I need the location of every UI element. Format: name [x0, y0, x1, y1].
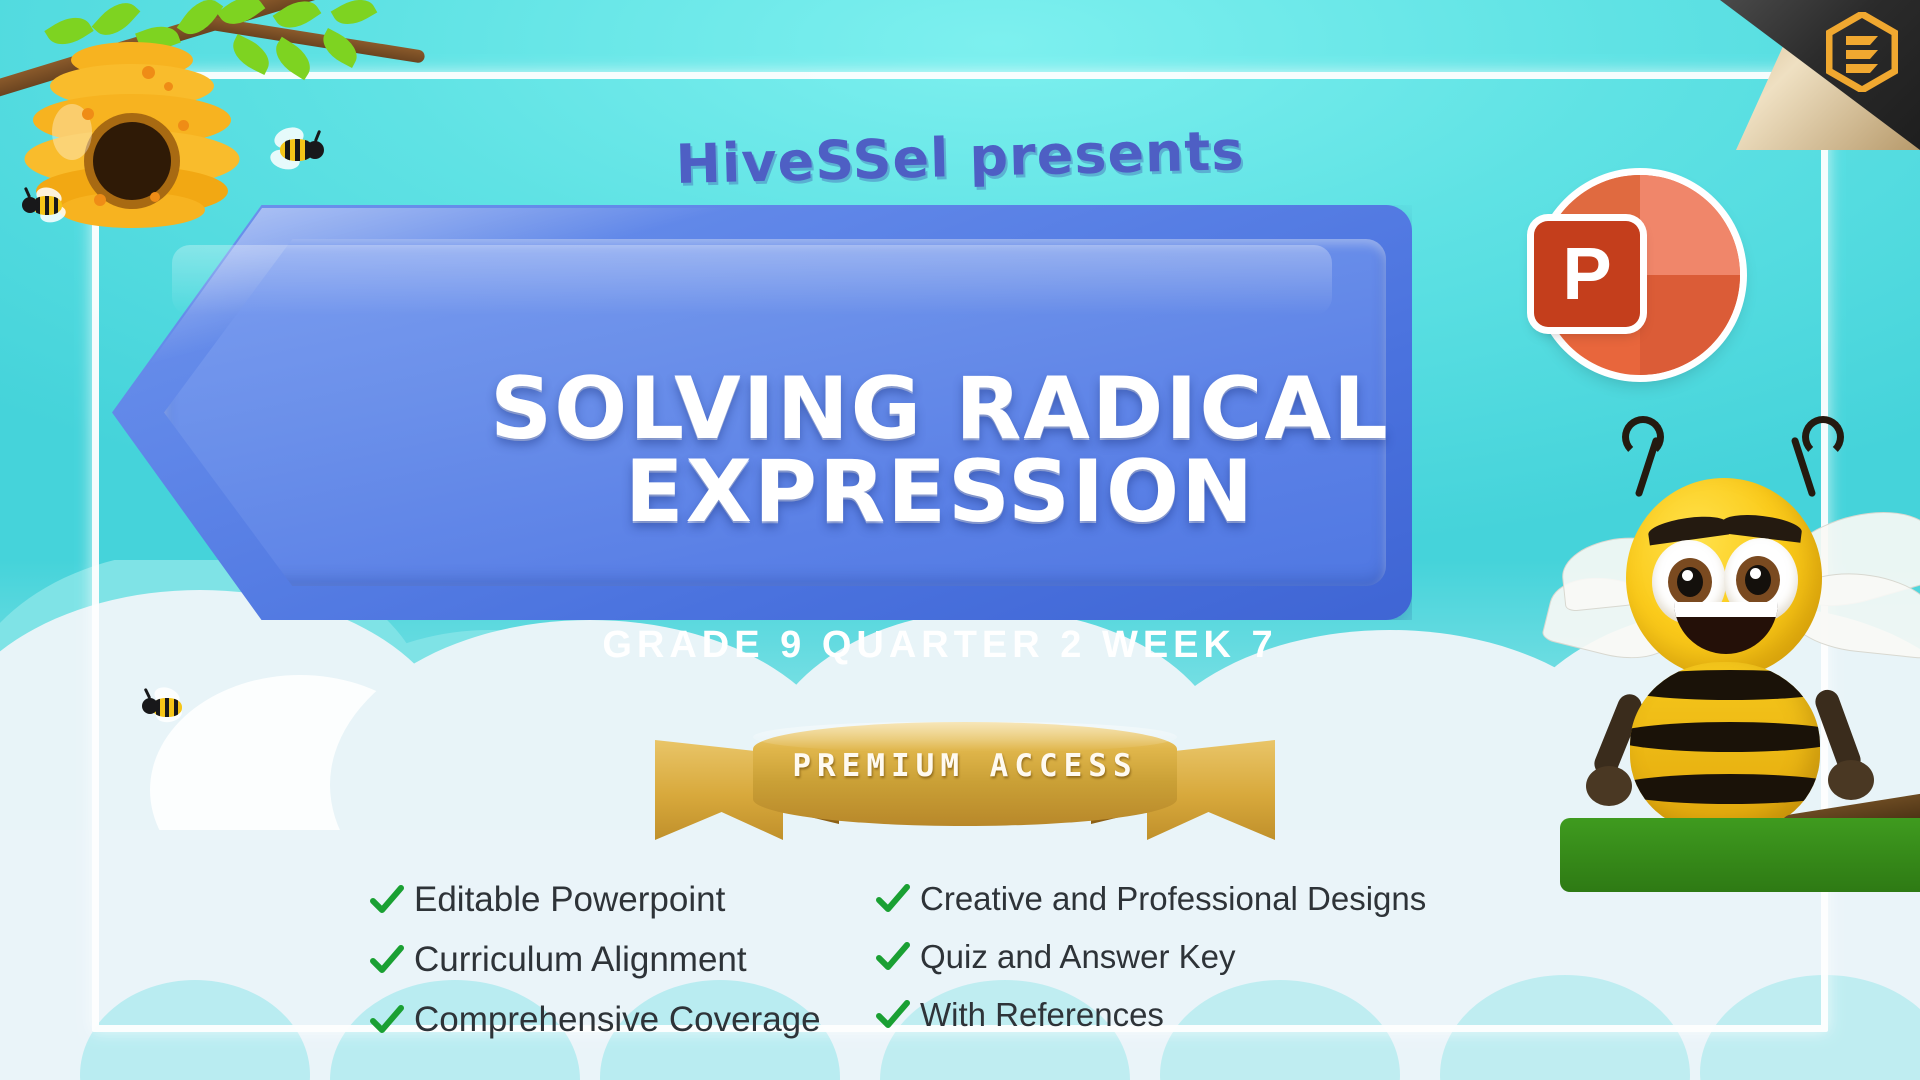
feature-label: Curriculum Alignment — [414, 940, 747, 980]
corner-fold — [1720, 0, 1920, 150]
feature-label: Quiz and Answer Key — [920, 938, 1236, 976]
check-icon — [876, 940, 910, 974]
feature-label: Comprehensive Coverage — [414, 1000, 821, 1040]
bee-mascot — [1570, 430, 1920, 880]
feature-list: Editable Powerpoint Curriculum Alignment… — [370, 880, 1560, 1040]
check-icon — [370, 883, 404, 917]
list-item: Quiz and Answer Key — [876, 938, 1436, 976]
slide-canvas: HiveSSel presents SOLVING RADICAL EXPRES… — [0, 0, 1920, 1080]
list-item: Editable Powerpoint — [370, 880, 800, 920]
flying-bee-icon — [140, 688, 192, 726]
list-item: Curriculum Alignment — [370, 940, 800, 980]
feature-column-right: Creative and Professional Designs Quiz a… — [876, 880, 1436, 1040]
check-icon — [876, 882, 910, 916]
check-icon — [876, 998, 910, 1032]
check-icon — [370, 943, 404, 977]
powerpoint-letter: P — [1534, 221, 1640, 327]
page-title: SOLVING RADICAL EXPRESSION — [150, 368, 1730, 533]
hivessel-hexagon-logo — [1826, 12, 1898, 90]
title-line-2: EXPRESSION — [150, 451, 1730, 534]
check-icon — [370, 1003, 404, 1037]
feature-label: With References — [920, 996, 1164, 1034]
page-subtitle: GRADE 9 QUARTER 2 WEEK 7 — [150, 624, 1730, 667]
list-item: With References — [876, 996, 1436, 1034]
powerpoint-icon: P — [1540, 175, 1740, 375]
feature-label: Editable Powerpoint — [414, 880, 725, 920]
premium-access-ribbon: PREMIUM ACCESS — [655, 722, 1275, 852]
feature-label: Creative and Professional Designs — [920, 880, 1426, 918]
list-item: Creative and Professional Designs — [876, 880, 1436, 918]
ribbon-label: PREMIUM ACCESS — [655, 748, 1275, 784]
feature-column-left: Editable Powerpoint Curriculum Alignment… — [370, 880, 800, 1040]
list-item: Comprehensive Coverage — [370, 1000, 800, 1040]
